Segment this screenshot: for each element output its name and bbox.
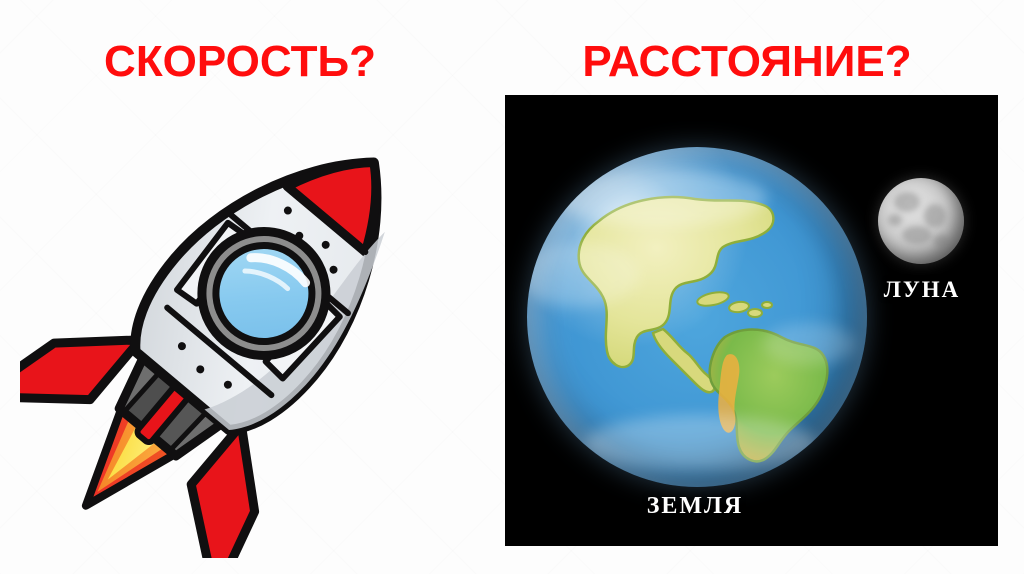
cloud-band-north bbox=[557, 169, 767, 227]
moon-mare-4 bbox=[933, 234, 949, 248]
moon-mare-3 bbox=[902, 226, 932, 244]
earth-globe bbox=[527, 147, 867, 487]
moon-mare-5 bbox=[888, 214, 902, 226]
moon-sphere bbox=[878, 178, 964, 264]
earth-surface bbox=[527, 147, 867, 487]
cloud-swirl-mid bbox=[763, 323, 855, 365]
central-america bbox=[653, 329, 715, 392]
heading-distance: РАССТОЯНИЕ? bbox=[512, 40, 982, 84]
label-moon: ЛУНА bbox=[863, 277, 981, 303]
rocket-svg bbox=[20, 98, 450, 558]
space-image-panel: ЗЕМЛЯ ЛУНА bbox=[505, 95, 998, 546]
rocket-illustration bbox=[20, 98, 450, 558]
caribbean-islands bbox=[696, 290, 772, 317]
moon-mare-2 bbox=[924, 204, 946, 228]
heading-speed: СКОРОСТЬ? bbox=[0, 40, 480, 84]
moon-mare-1 bbox=[894, 192, 920, 212]
slide-canvas: СКОРОСТЬ? РАССТОЯНИЕ? bbox=[0, 0, 1024, 574]
label-earth: ЗЕМЛЯ bbox=[505, 493, 885, 520]
cloud-band-south bbox=[585, 415, 815, 471]
